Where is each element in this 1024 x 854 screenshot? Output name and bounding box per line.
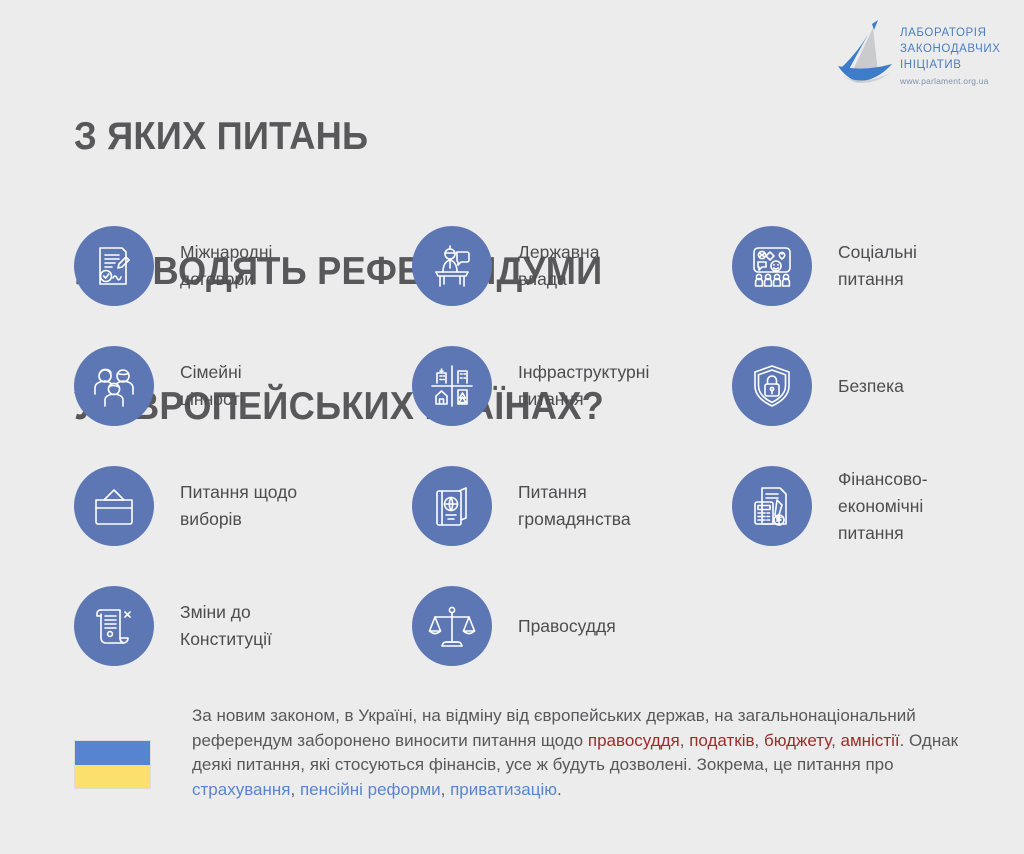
flag-yellow-stripe (75, 765, 150, 789)
header: З ЯКИХ ПИТАНЬ ПРОВОДЯТЬ РЕФЕРЕНДУМИ У ЄВ… (0, 0, 1024, 190)
footnote-restricted-term: правосуддя (588, 731, 680, 750)
topic-badge (412, 586, 492, 666)
topic-label: Соціальні питання (838, 239, 917, 293)
footnote-text-segment: . (557, 780, 562, 799)
contract-document-pen-icon (90, 242, 138, 290)
topic-label: Інфраструктурні питання (518, 359, 649, 413)
footnote-restricted-term: податків (689, 731, 754, 750)
footnote-text-segment: , (290, 780, 299, 799)
topic-item-financial-economic[interactable]: Фінансово- економічні питання (732, 446, 928, 566)
title-line-1: З ЯКИХ ПИТАНЬ (74, 114, 604, 159)
topic-item-family-values[interactable]: Сімейні цінності (74, 326, 244, 446)
footnote-allowed-term: страхування (192, 780, 290, 799)
topic-item-security[interactable]: Безпека (732, 326, 904, 446)
topic-label: Питання щодо виборів (180, 479, 297, 533)
family-icon (90, 362, 138, 410)
topic-item-citizenship[interactable]: Питання громадянства (412, 446, 631, 566)
calculator-invoice-icon (748, 482, 796, 530)
topics-row: Міжнародні договори Державна влада (0, 206, 1024, 326)
ukraine-flag-icon (74, 740, 151, 789)
topic-badge (412, 346, 492, 426)
topic-badge (732, 466, 812, 546)
logo-line-3: ІНІЦІАТИВ (900, 57, 1006, 73)
topic-item-state-power[interactable]: Державна влада (412, 206, 599, 326)
topic-label: Сімейні цінності (180, 359, 244, 413)
topic-item-international-treaties[interactable]: Міжнародні договори (74, 206, 272, 326)
topics-row: Сімейні цінності Інфраструктурні питання (0, 326, 1024, 446)
topic-badge (74, 226, 154, 306)
topic-label: Правосуддя (518, 613, 616, 640)
topics-row: Питання щодо виборів Питання громадянств… (0, 446, 1024, 566)
logo-line-2: ЗАКОНОДАВЧИХ (900, 41, 1006, 57)
topic-badge (74, 346, 154, 426)
topic-label: Державна влада (518, 239, 599, 293)
flag-blue-stripe (75, 741, 150, 765)
topic-label: Питання громадянства (518, 479, 631, 533)
footnote: За новим законом, в Україні, на відміну … (0, 690, 1024, 850)
topic-label: Безпека (838, 373, 904, 400)
topic-badge (412, 466, 492, 546)
shield-lock-icon (748, 362, 796, 410)
topic-badge (74, 586, 154, 666)
scroll-document-icon (90, 602, 138, 650)
footnote-allowed-term: приватизацію (450, 780, 557, 799)
topic-badge (412, 226, 492, 306)
topic-badge (74, 466, 154, 546)
footnote-text-segment: , (755, 731, 764, 750)
footnote-restricted-term: амністії (841, 731, 900, 750)
social-board-people-icon (748, 242, 796, 290)
logo-website-url[interactable]: www.parlament.org.ua (900, 76, 1006, 86)
buildings-grid-icon (428, 362, 476, 410)
sail-logo-icon (838, 16, 896, 94)
footnote-text-segment: , (441, 780, 450, 799)
footnote-text-segment: , (831, 731, 840, 750)
topics-grid: Міжнародні договори Державна влада (0, 206, 1024, 686)
topic-badge (732, 346, 812, 426)
footnote-text-segment: , (680, 731, 689, 750)
topic-label: Фінансово- економічні питання (838, 466, 928, 547)
topic-badge (732, 226, 812, 306)
logo-wordmark: ЛАБОРАТОРІЯ ЗАКОНОДАВЧИХ ІНІЦІАТИВ www.p… (900, 25, 1006, 86)
ballot-box-icon (90, 482, 138, 530)
justice-scales-icon (428, 602, 476, 650)
organization-logo[interactable]: ЛАБОРАТОРІЯ ЗАКОНОДАВЧИХ ІНІЦІАТИВ www.p… (838, 16, 1006, 102)
topic-label: Міжнародні договори (180, 239, 272, 293)
topic-item-justice[interactable]: Правосуддя (412, 566, 616, 686)
footnote-text: За новим законом, в Україні, на відміну … (192, 704, 982, 802)
topic-item-social-issues[interactable]: Соціальні питання (732, 206, 917, 326)
topic-label: Зміни до Конституції (180, 599, 272, 653)
passport-globe-icon (428, 482, 476, 530)
topic-item-infrastructure[interactable]: Інфраструктурні питання (412, 326, 649, 446)
topics-row: Зміни до Конституції Правосуддя (0, 566, 1024, 686)
topic-item-elections[interactable]: Питання щодо виборів (74, 446, 297, 566)
footnote-restricted-term: бюджету (764, 731, 831, 750)
footnote-allowed-term: пенсійні реформи (300, 780, 441, 799)
logo-line-1: ЛАБОРАТОРІЯ (900, 25, 1006, 41)
speaker-podium-icon (428, 242, 476, 290)
topic-item-constitution-amendments[interactable]: Зміни до Конституції (74, 566, 272, 686)
